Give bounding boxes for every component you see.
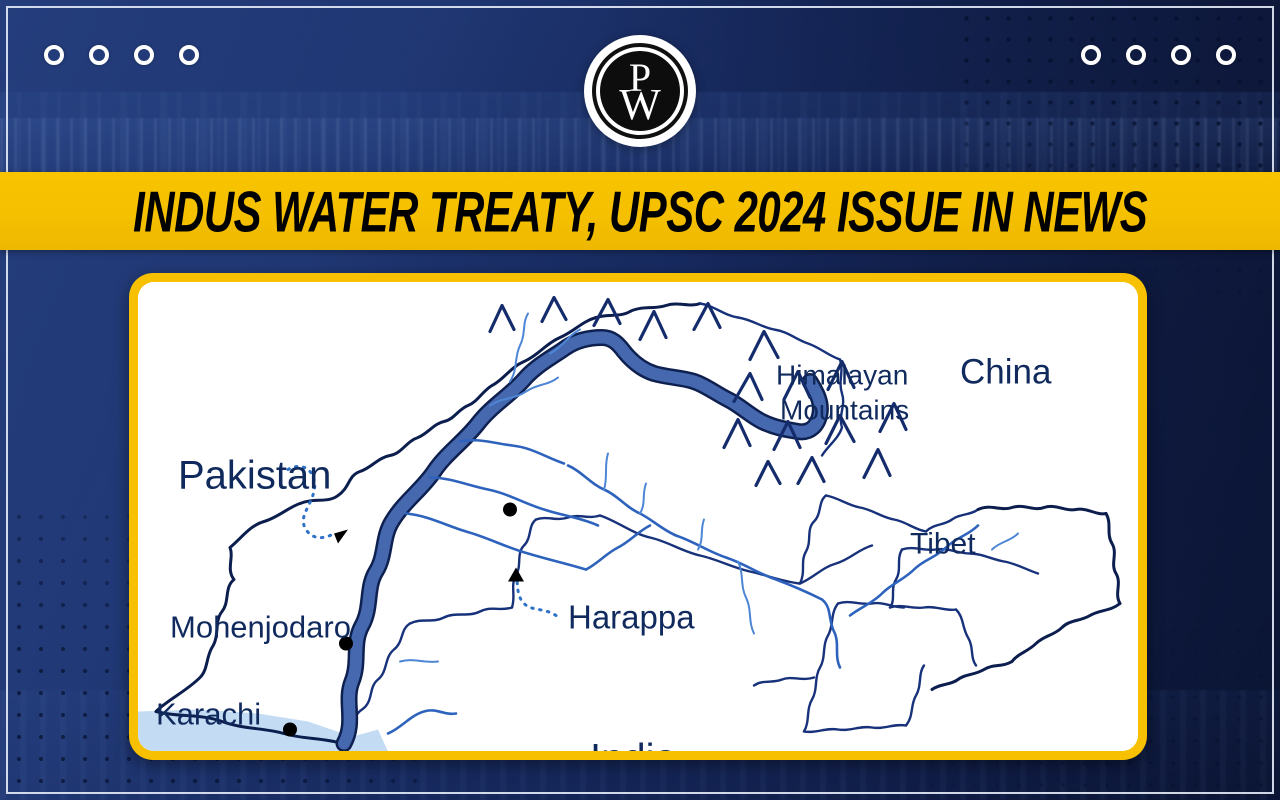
page-title: INDUS WATER TREATY, UPSC 2024 ISSUE IN N…	[133, 182, 1147, 240]
label-karachi: Karachi	[156, 697, 261, 732]
label-himalayan-mountains-line1: Himalayan	[776, 360, 908, 391]
karachi-marker[interactable]	[283, 723, 297, 737]
label-himalayan-mountains-line2: Mountains	[780, 395, 909, 426]
ring-icon	[1171, 45, 1191, 65]
label-tibet: Tibet	[910, 528, 976, 561]
pw-logo[interactable]: P W	[584, 35, 696, 147]
ring-icon	[89, 45, 109, 65]
indus-valley-map[interactable]: .ctry { fill:none; stroke:#17317A; strok…	[138, 282, 1138, 751]
ring-icon	[134, 45, 154, 65]
decor-rings-left	[44, 45, 199, 65]
pw-logo-ring: P W	[592, 43, 688, 139]
label-china: China	[960, 353, 1052, 392]
label-india: India	[590, 737, 677, 752]
ring-icon	[179, 45, 199, 65]
label-mohenjodaro: Mohenjodaro	[170, 610, 351, 645]
svg-text:W: W	[619, 80, 661, 129]
map-card: .ctry { fill:none; stroke:#17317A; strok…	[129, 273, 1147, 760]
title-banner: INDUS WATER TREATY, UPSC 2024 ISSUE IN N…	[0, 172, 1280, 250]
poster-canvas: P W INDUS WATER TREATY, UPSC 2024 ISSUE …	[0, 0, 1280, 800]
harappa-marker[interactable]	[503, 503, 517, 517]
label-harappa: Harappa	[568, 599, 695, 636]
ring-icon	[44, 45, 64, 65]
ring-icon	[1216, 45, 1236, 65]
decor-rings-right	[1081, 45, 1236, 65]
label-pakistan: Pakistan	[178, 454, 331, 498]
pw-monogram-icon: P W	[600, 51, 680, 131]
pw-logo-core: P W	[600, 51, 680, 131]
map-canvas[interactable]: .ctry { fill:none; stroke:#17317A; strok…	[138, 282, 1138, 751]
ring-icon	[1126, 45, 1146, 65]
ring-icon	[1081, 45, 1101, 65]
